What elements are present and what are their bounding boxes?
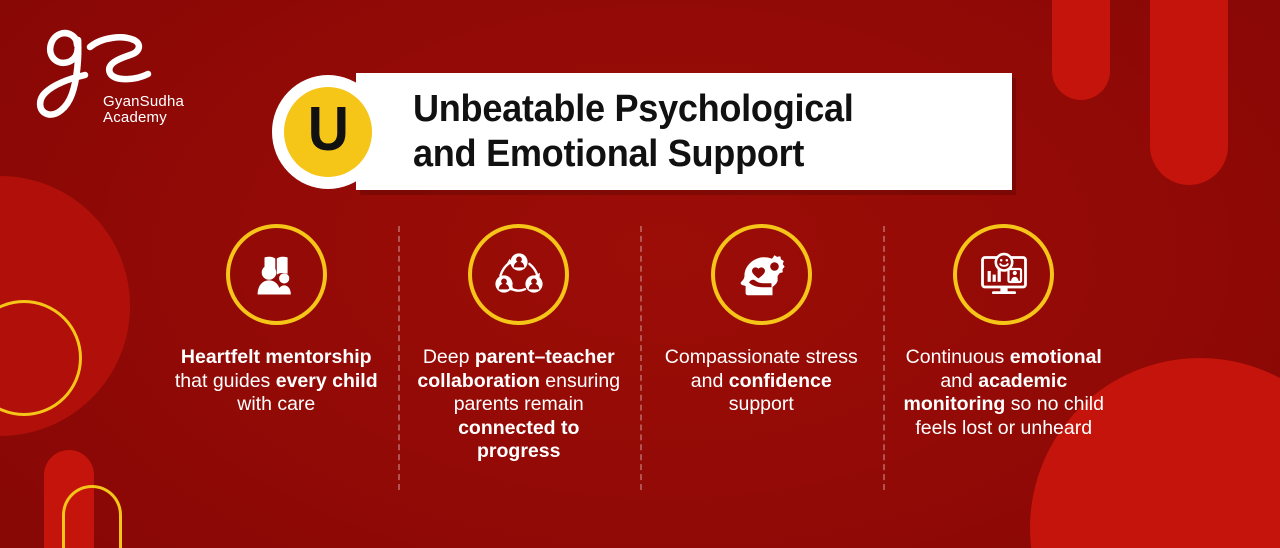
feature-text: Heartfelt mentorship that guides every c…	[174, 346, 379, 417]
decor-pill-top-right-small	[1052, 0, 1110, 100]
mentor-book-people-icon	[246, 245, 306, 305]
feature-text: Compassionate stress and confidence supp…	[659, 346, 864, 417]
page-title: Unbeatable Psychological and Emotional S…	[356, 87, 871, 177]
monitor-dashboard-smiley-icon	[974, 245, 1034, 305]
brand-name-line2: Academy	[103, 110, 184, 126]
decor-circle-bottom-left	[0, 176, 130, 436]
feature-item-mentorship: Heartfelt mentorship that guides every c…	[155, 224, 398, 417]
feature-item-collaboration: Deep parent–teacher collaboration ensuri…	[398, 224, 641, 464]
mind-heart-gear-icon	[731, 245, 791, 305]
feature-text: Deep parent–teacher collaboration ensuri…	[416, 346, 621, 464]
letter-badge: U	[272, 75, 384, 189]
feature-list: Heartfelt mentorship that guides every c…	[155, 224, 1125, 464]
feature-icon-ring	[711, 224, 812, 325]
brand-name: GyanSudha Academy	[103, 94, 184, 126]
badge-letter: U	[307, 99, 348, 161]
decor-arch-bottom-left	[62, 485, 122, 548]
brand-logo[interactable]: GyanSudha Academy	[30, 22, 210, 140]
decor-corner-bracket-icon	[1207, 0, 1280, 33]
feature-icon-ring	[468, 224, 569, 325]
decor-pill-bottom-left	[44, 450, 94, 548]
title-banner: Unbeatable Psychological and Emotional S…	[356, 73, 1012, 190]
decor-ring-left	[0, 300, 82, 416]
brand-name-line1: GyanSudha	[103, 94, 184, 110]
infographic-banner: GyanSudha Academy Unbeatable Psychologic…	[0, 0, 1280, 548]
feature-text: Continuous emotional and academic monito…	[901, 346, 1106, 440]
badge-inner-disc: U	[284, 87, 372, 177]
feature-item-monitoring: Continuous emotional and academic monito…	[883, 224, 1126, 440]
feature-icon-ring	[226, 224, 327, 325]
collaboration-cycle-people-icon	[489, 245, 549, 305]
decor-pill-top-right-large	[1150, 0, 1228, 185]
feature-icon-ring	[953, 224, 1054, 325]
feature-item-support: Compassionate stress and confidence supp…	[640, 224, 883, 417]
